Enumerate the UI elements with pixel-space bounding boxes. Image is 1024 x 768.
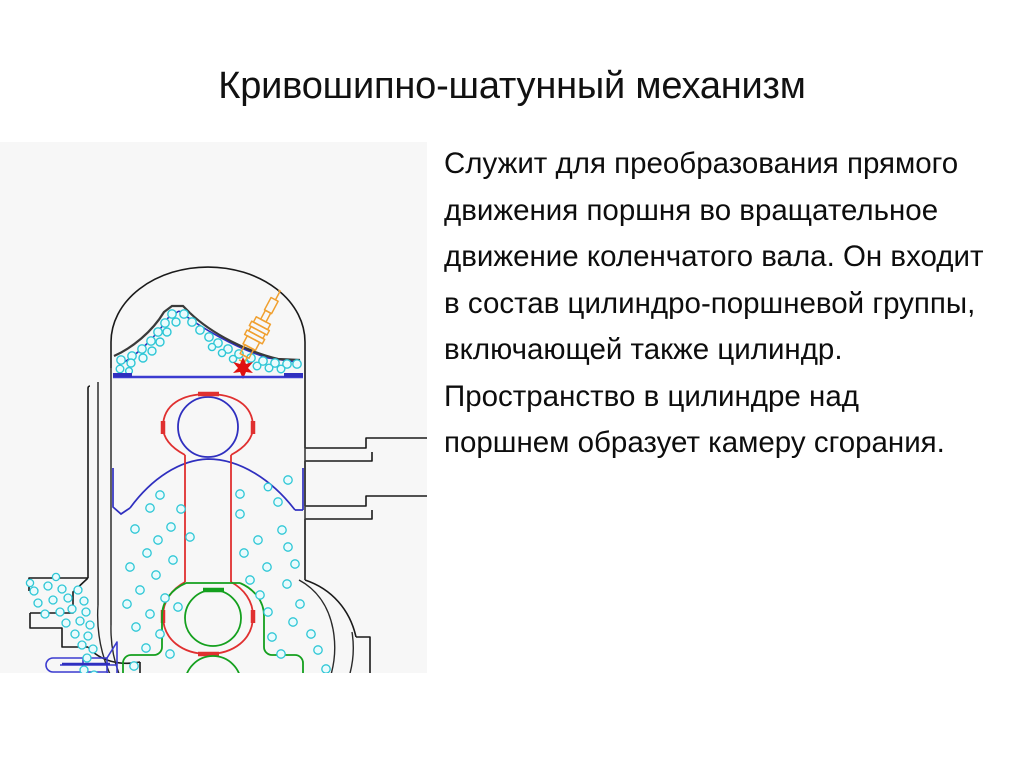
page-title: Кривошипно-шатунный механизм — [0, 65, 1024, 108]
connecting-rod — [163, 394, 253, 654]
body-paragraph-container: Служит для преобразования прямого движен… — [444, 141, 984, 467]
piston-pin-bore — [178, 397, 238, 457]
piston-skirt — [113, 459, 303, 514]
crankshaft-counterweight — [123, 583, 303, 673]
fuel-air-mixture-bubbles — [116, 310, 301, 375]
cylinder-bore-walls — [98, 368, 305, 625]
engine-cross-section-svg — [0, 142, 427, 673]
rod-bearing-highlights — [163, 394, 253, 654]
slide-canvas: Кривошипно-шатунный механизм — [0, 0, 1024, 768]
body-paragraph: Служит для преобразования прямого движен… — [444, 141, 984, 467]
engine-diagram-panel — [0, 142, 427, 673]
